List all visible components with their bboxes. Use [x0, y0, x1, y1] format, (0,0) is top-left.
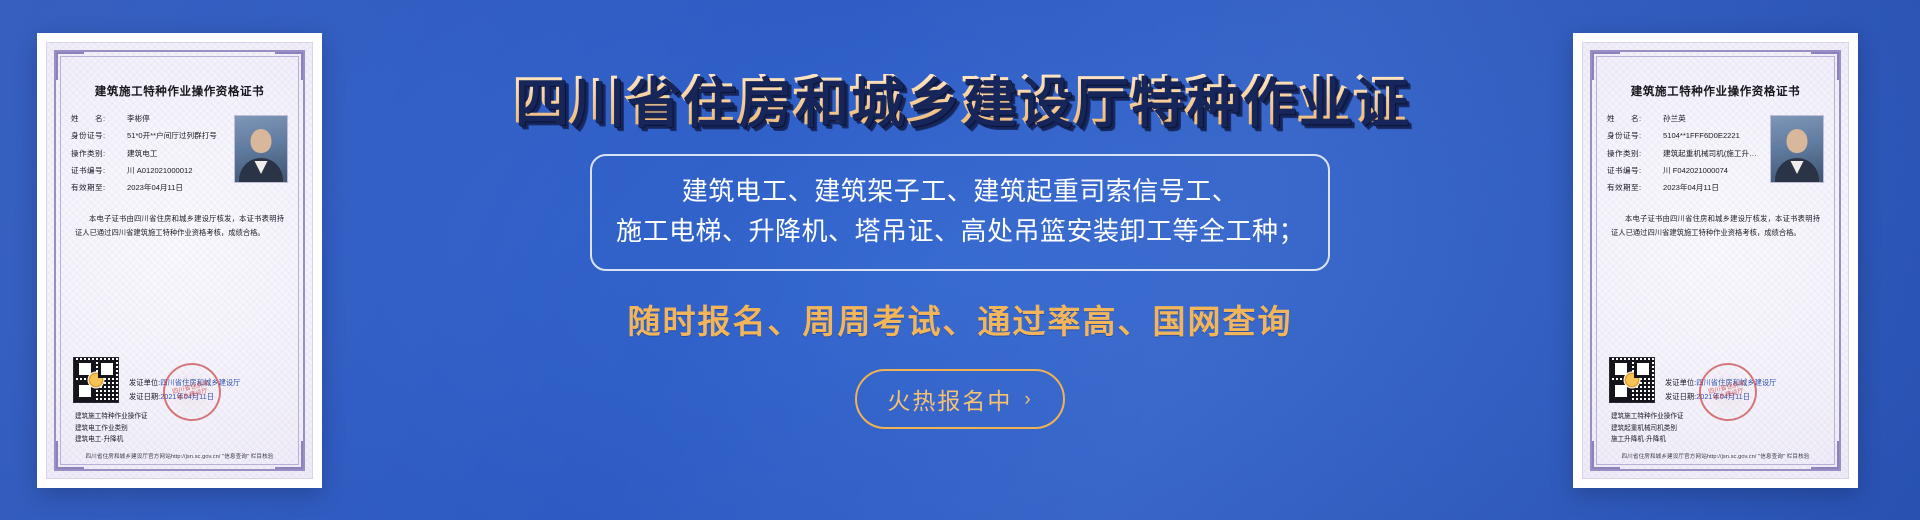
- certificate-note: 本电子证书由四川省住房和城乡建设厅核发，本证书表明持证人已通过四川省建筑施工特种…: [75, 212, 284, 239]
- banner-center-content: 四川省住房和城乡建设厅特种作业证 建筑电工、建筑架子工、建筑起重司索信号工、 施…: [360, 0, 1560, 520]
- certificate-title: 建筑施工特种作业操作资格证书: [1601, 83, 1830, 99]
- field-row: 有效期至:2023年04月11日: [71, 182, 226, 194]
- certificate-paper: 建筑施工特种作业操作资格证书 姓 名:李彬停 身份证号:51*0开**户间厅过列…: [46, 42, 313, 479]
- field-key: 身份证号:: [1607, 130, 1663, 142]
- page-title: 四川省住房和城乡建设厅特种作业证: [512, 74, 1408, 128]
- issue-info: 发证单位:四川省住房和城乡建设厅 发证日期:2021年04月11日 四川省住房和…: [1665, 376, 1822, 404]
- field-key: 有效期至:: [1607, 182, 1663, 194]
- enroll-cta-button[interactable]: 火热报名中 ›: [855, 369, 1064, 429]
- seal-text: 四川省住房和城乡建设厅: [1707, 380, 1749, 404]
- chevron-right-icon: ›: [1024, 390, 1032, 409]
- field-row: 证书编号:川 F042021000074: [1607, 165, 1762, 177]
- field-row: 操作类别:建筑起重机械司机(施工升降机): [1607, 148, 1762, 160]
- subinfo-line: 建筑电工·升降机: [75, 434, 284, 446]
- subinfo-line: 建筑起重机械司机类别: [1611, 423, 1820, 435]
- issue-org-label: 发证单位:: [129, 378, 160, 387]
- photo-head: [251, 129, 272, 153]
- certificate-footer: 四川省住房和城乡建设厅官方网站http://jsn.sc.gov.cn/ "信息…: [65, 446, 294, 460]
- certificate-fields: 姓 名:孙兰英 身份证号:5104**1FFF6D0E2221 操作类别:建筑起…: [1607, 113, 1762, 199]
- field-key: 姓 名:: [1607, 113, 1663, 125]
- field-value: 2023年04月11日: [1663, 182, 1762, 194]
- certificate-card-right: 建筑施工特种作业操作资格证书 姓 名:孙兰英 身份证号:5104**1FFF6D…: [1573, 33, 1858, 488]
- subinfo-line: 建筑电工作业类别: [75, 423, 284, 435]
- field-row: 操作类别:建筑电工: [71, 148, 226, 160]
- qr-center-logo: [1624, 372, 1641, 389]
- issue-date-label: 发证日期:: [129, 392, 160, 401]
- certificate-footer: 四川省住房和城乡建设厅官方网站http://jsn.sc.gov.cn/ "信息…: [1601, 446, 1830, 460]
- promo-banner: 建筑施工特种作业操作资格证书 姓 名:李彬停 身份证号:51*0开**户间厅过列…: [0, 0, 1920, 520]
- field-key: 证书编号:: [1607, 165, 1663, 177]
- certificate-title: 建筑施工特种作业操作资格证书: [65, 83, 294, 99]
- issue-date-label: 发证日期:: [1665, 392, 1696, 401]
- field-row: 身份证号:5104**1FFF6D0E2221: [1607, 130, 1762, 142]
- field-value: 川 A012021000012: [127, 165, 226, 177]
- scope-info-box: 建筑电工、建筑架子工、建筑起重司索信号工、 施工电梯、升降机、塔吊证、高处吊篮安…: [590, 154, 1330, 271]
- field-key: 姓 名:: [71, 113, 127, 125]
- qr-code: [1609, 357, 1655, 403]
- field-value: 5104**1FFF6D0E2221: [1663, 130, 1762, 142]
- info-line-2: 施工电梯、升降机、塔吊证、高处吊篮安装卸工等全工种；: [616, 212, 1304, 252]
- field-value: 2023年04月11日: [127, 182, 226, 194]
- field-row: 姓 名:李彬停: [71, 113, 226, 125]
- photo-head: [1787, 129, 1808, 153]
- field-key: 有效期至:: [71, 182, 127, 194]
- field-key: 身份证号:: [71, 130, 127, 142]
- info-line-1: 建筑电工、建筑架子工、建筑起重司索信号工、: [616, 172, 1304, 212]
- field-row: 证书编号:川 A012021000012: [71, 165, 226, 177]
- qr-center-logo: [88, 372, 105, 389]
- certificate-card-left: 建筑施工特种作业操作资格证书 姓 名:李彬停 身份证号:51*0开**户间厅过列…: [37, 33, 322, 488]
- portrait-photo: [234, 115, 288, 183]
- certificate-paper: 建筑施工特种作业操作资格证书 姓 名:孙兰英 身份证号:5104**1FFF6D…: [1582, 42, 1849, 479]
- seal-text: 四川省住房和城乡建设厅: [171, 380, 213, 404]
- field-value: 李彬停: [127, 113, 226, 125]
- field-value: 川 F042021000074: [1663, 165, 1762, 177]
- portrait-photo: [1770, 115, 1824, 183]
- field-row: 身份证号:51*0开**户间厅过列群打号: [71, 130, 226, 142]
- slogan-text: 随时报名、周周考试、通过率高、国网查询: [628, 295, 1293, 343]
- field-value: 51*0开**户间厅过列群打号: [127, 130, 226, 142]
- field-value: 孙兰英: [1663, 113, 1762, 125]
- field-row: 有效期至:2023年04月11日: [1607, 182, 1762, 194]
- field-value: 建筑电工: [127, 148, 226, 160]
- certificate-fields: 姓 名:李彬停 身份证号:51*0开**户间厅过列群打号 操作类别:建筑电工 证…: [71, 113, 226, 199]
- certificate-note: 本电子证书由四川省住房和城乡建设厅核发，本证书表明持证人已通过四川省建筑施工特种…: [1611, 212, 1820, 239]
- field-key: 证书编号:: [71, 165, 127, 177]
- cta-label: 火热报名中: [887, 382, 1012, 416]
- field-row: 姓 名:孙兰英: [1607, 113, 1762, 125]
- issue-org-label: 发证单位:: [1665, 378, 1696, 387]
- field-value: 建筑起重机械司机(施工升降机): [1663, 148, 1762, 160]
- field-key: 操作类别:: [71, 148, 127, 160]
- issue-info: 发证单位:四川省住房和城乡建设厅 发证日期:2021年04月11日 四川省住房和…: [129, 376, 286, 404]
- field-key: 操作类别:: [1607, 148, 1663, 160]
- subinfo-line: 施工升降机·升降机: [1611, 434, 1820, 446]
- qr-code: [73, 357, 119, 403]
